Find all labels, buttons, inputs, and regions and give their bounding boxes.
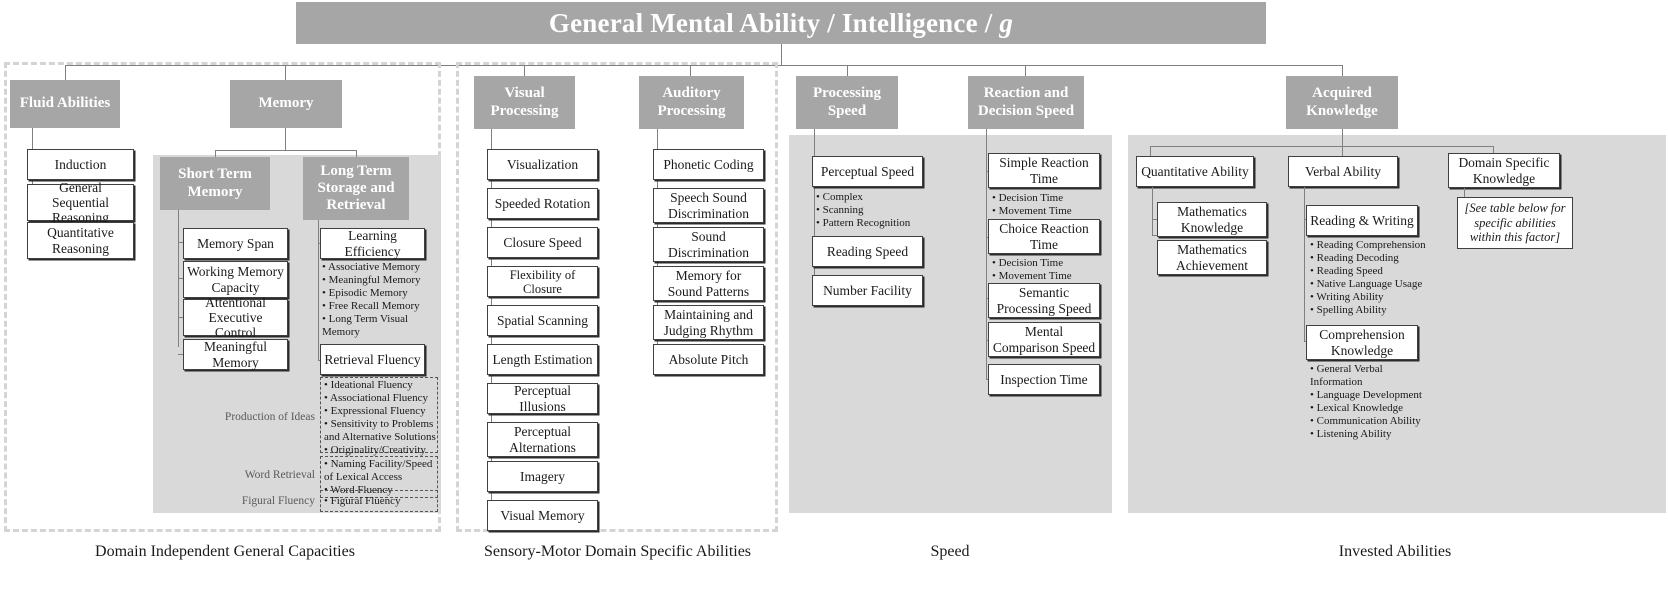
box-length-estimation[interactable]: Length Estimation bbox=[487, 344, 598, 375]
box-mathematics-knowledge[interactable]: Mathematics Knowledge bbox=[1157, 202, 1267, 237]
bullet: • Associative Memory bbox=[322, 261, 430, 274]
bullet: • Communication Ability bbox=[1310, 415, 1428, 428]
header-short-term-memory[interactable]: Short Term Memory bbox=[160, 157, 270, 210]
box-retrieval-fluency[interactable]: Retrieval Fluency bbox=[320, 344, 425, 375]
bullet: • Decision Time bbox=[992, 257, 1100, 270]
box-domain-specific-knowledge[interactable]: Domain Specific Knowledge bbox=[1448, 153, 1560, 188]
box-comprehension-knowledge[interactable]: Comprehension Knowledge bbox=[1306, 325, 1418, 360]
label-word-retrieval: Word Retrieval bbox=[215, 469, 315, 481]
header-acquired-knowledge[interactable]: Acquired Knowledge bbox=[1286, 76, 1398, 129]
root-title-g: g bbox=[999, 8, 1013, 38]
box-quantitative-ability[interactable]: Quantitative Ability bbox=[1136, 156, 1254, 187]
root-title-text: General Mental Ability / Intelligence / bbox=[549, 8, 999, 38]
list-choice-reaction-time: • Decision Time • Movement Time bbox=[992, 257, 1100, 283]
box-meaningful-memory[interactable]: Meaningful Memory bbox=[183, 339, 288, 370]
box-phonetic-coding[interactable]: Phonetic Coding bbox=[653, 149, 764, 180]
box-inspection-time[interactable]: Inspection Time bbox=[988, 364, 1100, 395]
bullet: • Naming Facility/Speed of Lexical Acces… bbox=[324, 458, 438, 484]
bullet: • Decision Time bbox=[992, 192, 1100, 205]
header-long-term-storage-retrieval[interactable]: Long Term Storage and Retrieval bbox=[303, 157, 409, 220]
bullet: • General Verbal Information bbox=[1310, 363, 1428, 389]
box-spatial-scanning[interactable]: Spatial Scanning bbox=[487, 305, 598, 336]
list-perceptual-speed: • Complex • Scanning • Pattern Recogniti… bbox=[816, 191, 926, 230]
bullet: • Figural Fluency bbox=[324, 495, 436, 508]
caption-invested: Invested Abilities bbox=[1130, 543, 1660, 561]
ps-trunk-line bbox=[814, 129, 815, 293]
box-induction[interactable]: Induction bbox=[27, 149, 134, 180]
bullet: • Listening Ability bbox=[1310, 428, 1428, 441]
box-reading-writing[interactable]: Reading & Writing bbox=[1306, 205, 1418, 236]
panel-invested bbox=[1128, 135, 1666, 513]
bullet: • Long Term Visual Memory bbox=[322, 313, 430, 339]
ak-bus-line bbox=[1150, 146, 1493, 147]
bullet: • Reading Decoding bbox=[1310, 252, 1440, 265]
box-learning-efficiency[interactable]: Learning Efficiency bbox=[320, 228, 425, 259]
box-memory-for-sound-patterns[interactable]: Memory for Sound Patterns bbox=[653, 266, 764, 301]
bullet: • Ideational Fluency bbox=[324, 379, 436, 392]
list-reading-writing: • Reading Comprehension • Reading Decodi… bbox=[1310, 239, 1440, 317]
box-working-memory-capacity[interactable]: Working Memory Capacity bbox=[183, 261, 288, 298]
box-attentional-executive-control[interactable]: Attentional Executive Control bbox=[183, 299, 288, 336]
bullet: • Language Development bbox=[1310, 389, 1428, 402]
header-memory[interactable]: Memory bbox=[230, 80, 342, 128]
header-fluid-abilities[interactable]: Fluid Abilities bbox=[10, 80, 120, 128]
bullet: • Writing Ability bbox=[1310, 291, 1440, 304]
ltsr-trunk-line bbox=[318, 220, 319, 361]
list-production-of-ideas: • Ideational Fluency • Associational Flu… bbox=[324, 379, 436, 457]
box-closure-speed[interactable]: Closure Speed bbox=[487, 227, 598, 258]
root-stem-line bbox=[781, 44, 782, 66]
header-auditory-processing[interactable]: Auditory Processing bbox=[639, 76, 744, 129]
caption-speed: Speed bbox=[800, 543, 1100, 561]
box-semantic-processing-speed[interactable]: Semantic Processing Speed bbox=[988, 283, 1100, 318]
bullet: • Pattern Recognition bbox=[816, 217, 926, 230]
list-comprehension-knowledge: • General Verbal Information • Language … bbox=[1310, 363, 1428, 441]
bullet: • Episodic Memory bbox=[322, 287, 430, 300]
box-speech-sound-discrimination[interactable]: Speech Sound Discrimination bbox=[653, 188, 764, 223]
caption-domain-independent: Domain Independent General Capacities bbox=[30, 543, 420, 561]
label-figural-fluency: Figural Fluency bbox=[215, 495, 315, 507]
bullet: • Associational Fluency bbox=[324, 392, 436, 405]
box-perceptual-illusions[interactable]: Perceptual Illusions bbox=[487, 383, 598, 414]
box-flexibility-of-closure[interactable]: Flexibility of Closure bbox=[487, 266, 598, 297]
box-choice-reaction-time[interactable]: Choice Reaction Time bbox=[988, 219, 1100, 254]
box-perceptual-speed[interactable]: Perceptual Speed bbox=[812, 156, 923, 187]
bullet: • Free Recall Memory bbox=[322, 300, 430, 313]
caption-sensory-motor: Sensory-Motor Domain Specific Abilities bbox=[460, 543, 775, 561]
rds-trunk-line bbox=[986, 129, 987, 380]
label-production-of-ideas: Production of Ideas bbox=[215, 411, 315, 423]
box-mathematics-achievement[interactable]: Mathematics Achievement bbox=[1157, 240, 1267, 275]
header-processing-speed[interactable]: Processing Speed bbox=[796, 76, 898, 129]
memory-bus-line bbox=[215, 150, 356, 151]
box-number-facility[interactable]: Number Facility bbox=[812, 275, 923, 306]
box-reading-speed[interactable]: Reading Speed bbox=[812, 236, 923, 267]
bullet: • Reading Speed bbox=[1310, 265, 1440, 278]
box-sound-discrimination[interactable]: Sound Discrimination bbox=[653, 227, 764, 262]
box-memory-span[interactable]: Memory Span bbox=[183, 228, 288, 259]
ak-stem-line bbox=[1342, 129, 1343, 146]
bullet: • Native Language Usage bbox=[1310, 278, 1440, 291]
box-simple-reaction-time[interactable]: Simple Reaction Time bbox=[988, 153, 1100, 188]
box-verbal-ability[interactable]: Verbal Ability bbox=[1288, 156, 1398, 187]
list-figural-fluency: • Figural Fluency bbox=[324, 495, 436, 508]
qa-trunk-line bbox=[1152, 187, 1153, 235]
bullet: • Movement Time bbox=[992, 270, 1100, 283]
box-general-sequential-reasoning[interactable]: General Sequential Reasoning bbox=[27, 184, 134, 221]
header-visual-processing[interactable]: Visual Processing bbox=[474, 76, 575, 129]
memory-stem-line bbox=[285, 128, 286, 150]
bullet: • Lexical Knowledge bbox=[1310, 402, 1428, 415]
list-simple-reaction-time: • Decision Time • Movement Time bbox=[992, 192, 1100, 218]
root-title: General Mental Ability / Intelligence / … bbox=[296, 2, 1266, 44]
box-visualization[interactable]: Visualization bbox=[487, 149, 598, 180]
box-visual-memory[interactable]: Visual Memory bbox=[487, 500, 598, 531]
note-domain-specific-knowledge: [See table below for specific abilities … bbox=[1457, 197, 1573, 249]
box-perceptual-alternations[interactable]: Perceptual Alternations bbox=[487, 422, 598, 457]
va-trunk-line bbox=[1304, 187, 1305, 342]
list-learning-efficiency: • Associative Memory • Meaningful Memory… bbox=[322, 261, 430, 339]
bullet: • Movement Time bbox=[992, 205, 1100, 218]
box-imagery[interactable]: Imagery bbox=[487, 461, 598, 492]
box-mental-comparison-speed[interactable]: Mental Comparison Speed bbox=[988, 322, 1100, 357]
bullet: • Meaningful Memory bbox=[322, 274, 430, 287]
box-speeded-rotation[interactable]: Speeded Rotation bbox=[487, 188, 598, 219]
box-quantitative-reasoning[interactable]: Quantitative Reasoning bbox=[27, 222, 134, 259]
bullet: • Reading Comprehension bbox=[1310, 239, 1440, 252]
box-maintaining-judging-rhythm[interactable]: Maintaining and Judging Rhythm bbox=[653, 305, 764, 340]
box-absolute-pitch[interactable]: Absolute Pitch bbox=[653, 344, 764, 375]
bullet: • Scanning bbox=[816, 204, 926, 217]
bullet: • Complex bbox=[816, 191, 926, 204]
bullet: • Sensitivity to Problems and Alternativ… bbox=[324, 418, 436, 444]
bullet: • Expressional Fluency bbox=[324, 405, 436, 418]
bullet: • Spelling Ability bbox=[1310, 304, 1440, 317]
header-reaction-decision-speed[interactable]: Reaction and Decision Speed bbox=[968, 76, 1084, 129]
